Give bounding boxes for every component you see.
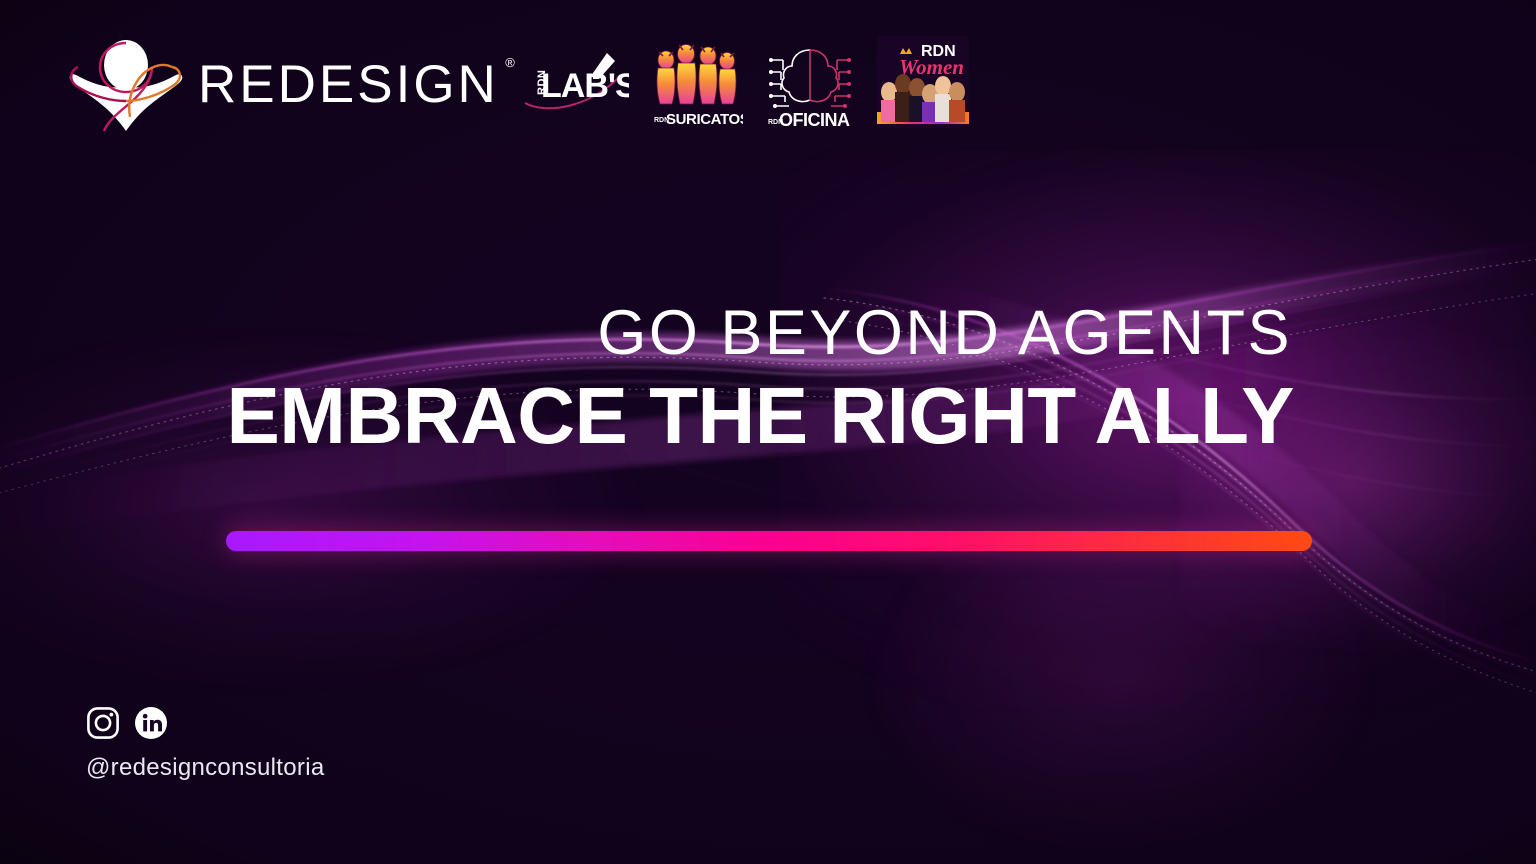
- rdn-oficina-logo-icon: RDN OFICINA: [765, 36, 855, 128]
- social-block: @redesignconsultoria: [86, 706, 325, 782]
- svg-text:Women: Women: [899, 55, 964, 79]
- presentation-slide: REDESIGN ® RDN LAB'S: [0, 0, 1536, 864]
- accent-gradient-bar: [226, 531, 1312, 551]
- svg-text:SURICATOS: SURICATOS: [666, 111, 743, 128]
- social-icon-row: [86, 706, 325, 740]
- partner-logo-rdn-labs[interactable]: RDN LAB'S: [521, 45, 629, 124]
- partner-logo-rdn-suricatos[interactable]: RDN SURICATOS: [651, 34, 743, 135]
- svg-text:LAB'S: LAB'S: [541, 67, 629, 105]
- headline-text: EMBRACE THE RIGHT ALLY: [0, 374, 1310, 458]
- partner-logo-rdn-women[interactable]: RDN Women: [877, 36, 969, 133]
- glow-lower: [860, 560, 1380, 860]
- partner-logo-rdn-oficina[interactable]: RDN OFICINA: [765, 36, 855, 133]
- redesign-angel-mark-icon: [64, 35, 188, 135]
- rdn-suricatos-logo-icon: RDN SURICATOS: [651, 34, 743, 130]
- instagram-icon[interactable]: [86, 706, 120, 740]
- kicker-text: GO BEYOND AGENTS: [0, 300, 1310, 366]
- registered-mark: ®: [505, 56, 515, 69]
- linkedin-icon[interactable]: [134, 706, 168, 740]
- brand-wordmark-text: REDESIGN: [198, 55, 499, 114]
- redesign-logo[interactable]: REDESIGN ®: [64, 35, 499, 135]
- social-handle: @redesignconsultoria: [86, 754, 325, 782]
- brand-wordmark: REDESIGN ®: [198, 58, 499, 111]
- logo-strip: REDESIGN ® RDN LAB'S: [64, 34, 969, 135]
- rdn-labs-logo-icon: RDN LAB'S: [521, 45, 629, 119]
- headline-block: GO BEYOND AGENTS EMBRACE THE RIGHT ALLY: [0, 300, 1310, 458]
- rdn-women-logo-icon: RDN Women: [877, 36, 969, 128]
- svg-text:OFICINA: OFICINA: [779, 110, 850, 128]
